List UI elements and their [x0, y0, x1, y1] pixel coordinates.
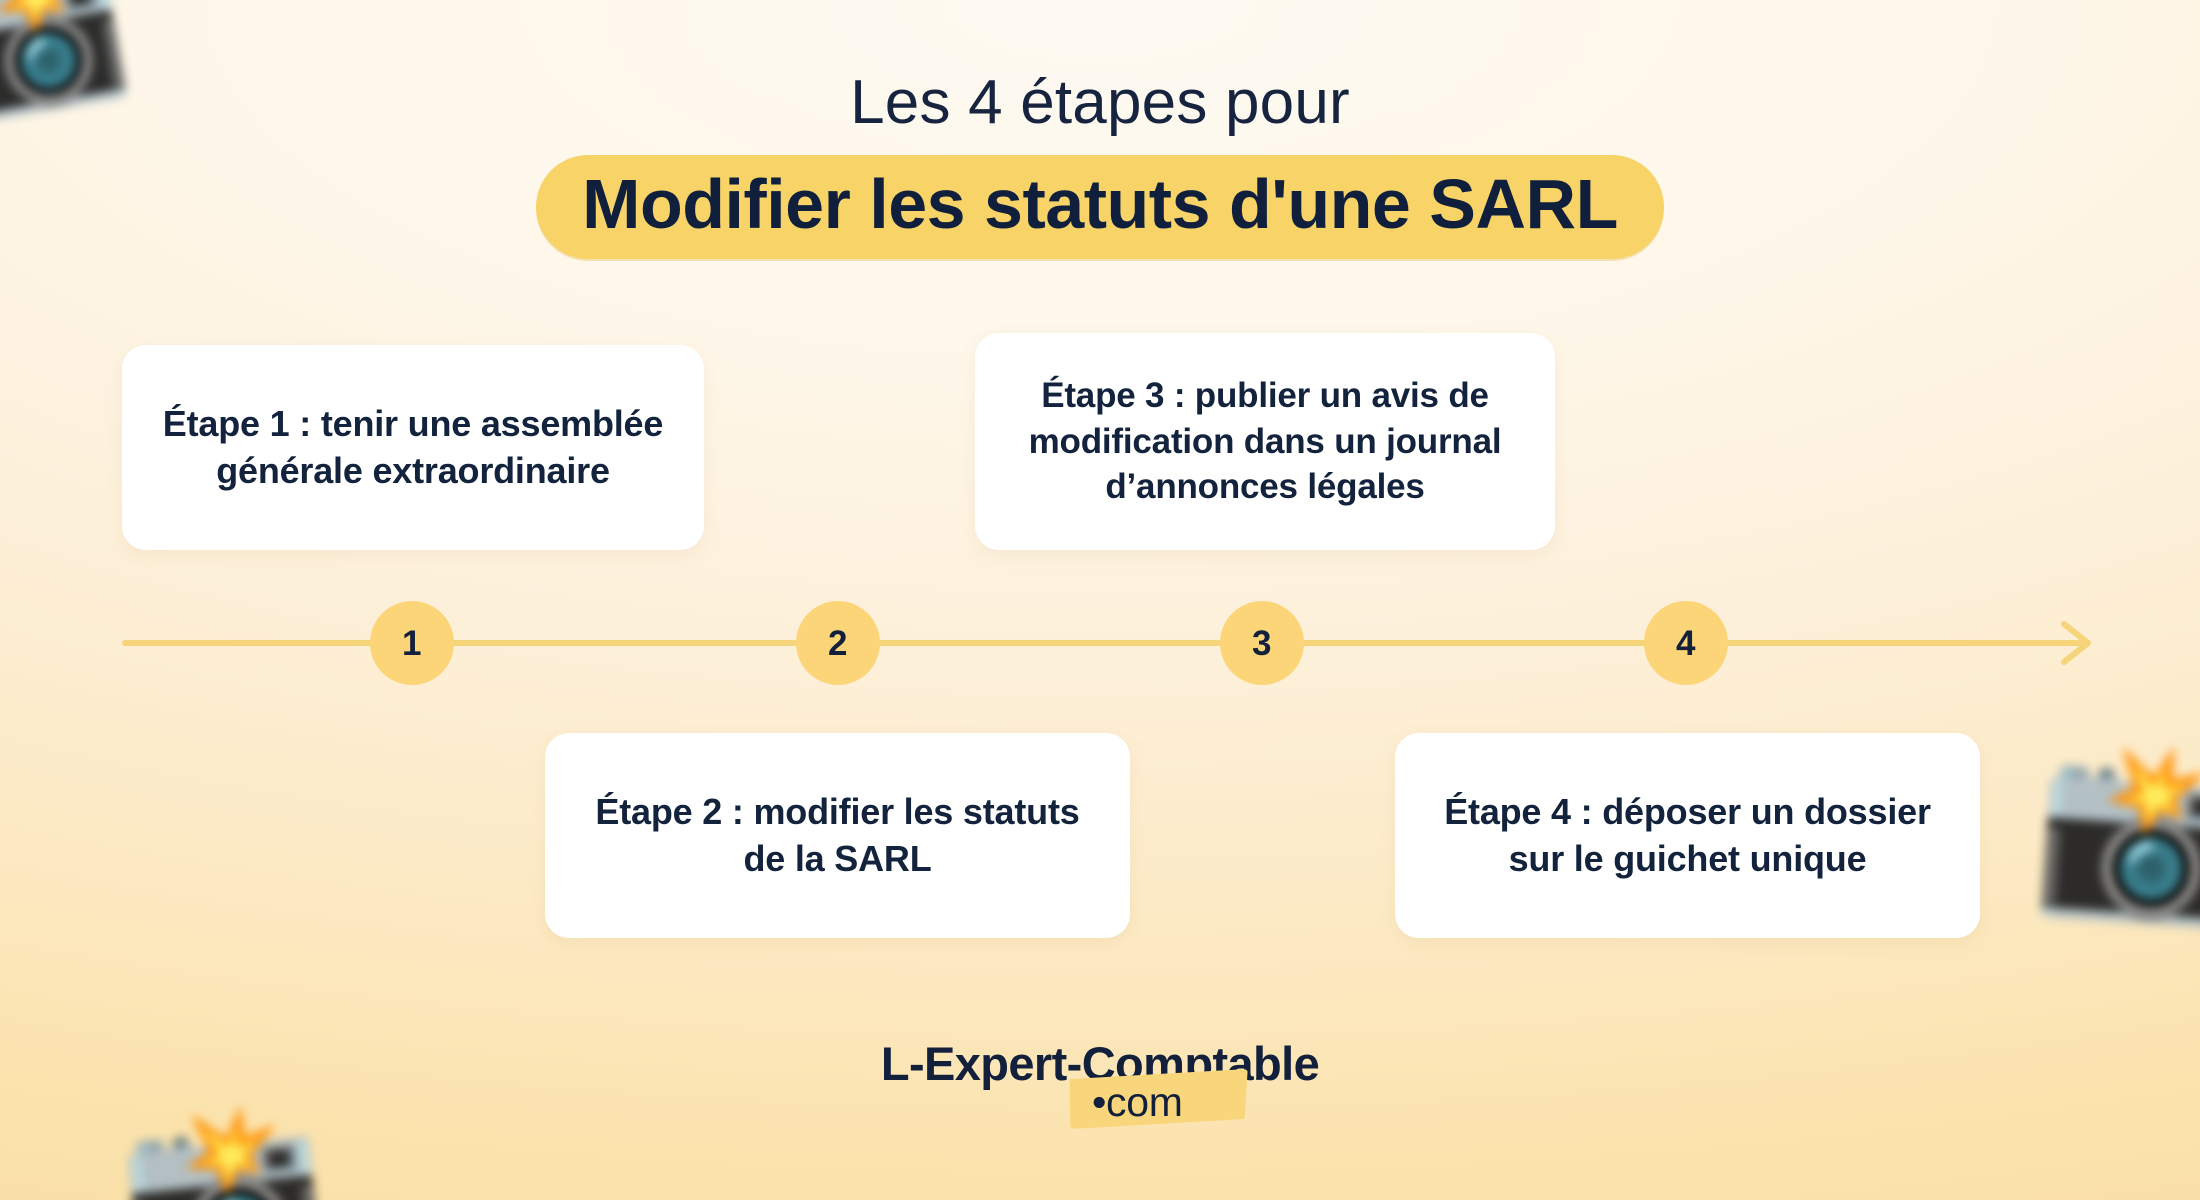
timeline-node-2-number: 2: [828, 626, 848, 661]
camera-flash-icon: 📸: [112, 1098, 334, 1200]
camera-flash-icon: 📸: [2029, 738, 2200, 922]
timeline-node-4: 4: [1644, 601, 1728, 685]
step-card-2-text: Étape 2 : modifier les statuts de la SAR…: [571, 789, 1104, 883]
step-card-4: Étape 4 : déposer un dossier sur le guic…: [1395, 733, 1980, 938]
infographic-canvas: 📸 📸 📸 Les 4 étapes pour Modifier les sta…: [0, 0, 2200, 1200]
headline-block: Les 4 étapes pour Modifier les statuts d…: [0, 70, 2200, 259]
step-card-1: Étape 1 : tenir une assemblée générale e…: [122, 345, 704, 550]
headline-highlight-pill: Modifier les statuts d'une SARL: [536, 155, 1664, 259]
brand-logo-domain-wrapper: •com: [1086, 1080, 1189, 1125]
timeline: 1 2 3 4: [122, 640, 2090, 646]
brand-logo: L-Expert-Comptable •com: [0, 1040, 2200, 1087]
step-card-3-text: Étape 3 : publier un avis de modificatio…: [1001, 373, 1529, 510]
timeline-node-2: 2: [796, 601, 880, 685]
arrow-right-icon: [2056, 618, 2102, 668]
timeline-node-4-number: 4: [1676, 626, 1696, 661]
step-card-3: Étape 3 : publier un avis de modificatio…: [975, 333, 1555, 550]
step-card-2: Étape 2 : modifier les statuts de la SAR…: [545, 733, 1130, 938]
timeline-node-1: 1: [370, 601, 454, 685]
page-title: Modifier les statuts d'une SARL: [582, 165, 1618, 243]
brand-logo-inner: L-Expert-Comptable •com: [881, 1040, 1319, 1087]
timeline-node-3-number: 3: [1252, 626, 1272, 661]
timeline-node-1-number: 1: [402, 626, 422, 661]
timeline-node-3: 3: [1220, 601, 1304, 685]
brand-logo-domain: •com: [1086, 1080, 1189, 1125]
headline-pill-wrapper: Modifier les statuts d'une SARL: [0, 155, 2200, 259]
step-card-1-text: Étape 1 : tenir une assemblée générale e…: [148, 401, 678, 495]
step-card-4-text: Étape 4 : déposer un dossier sur le guic…: [1421, 789, 1954, 883]
headline-subtitle: Les 4 étapes pour: [0, 70, 2200, 135]
